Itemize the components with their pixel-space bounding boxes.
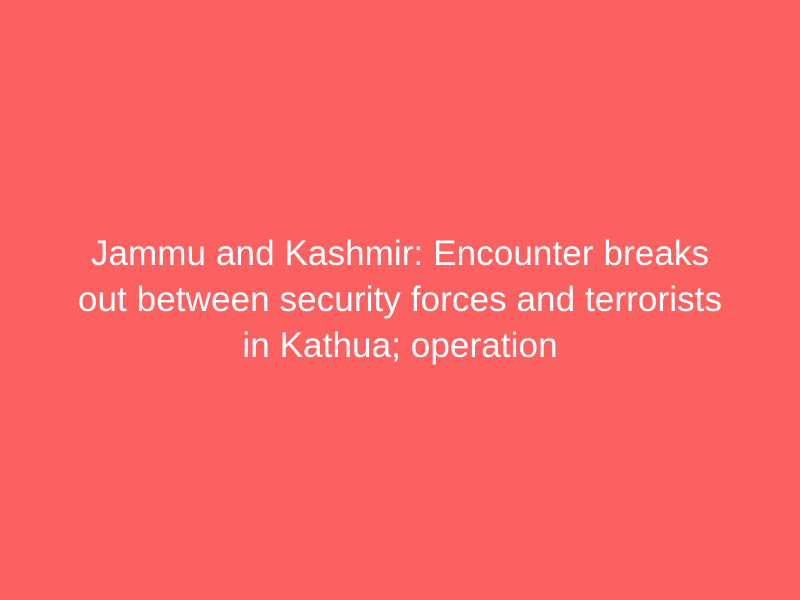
headline-block: Jammu and Kashmir: Encounter breaks out … xyxy=(60,231,740,369)
headline-card: Jammu and Kashmir: Encounter breaks out … xyxy=(0,0,800,600)
headline-text: Jammu and Kashmir: Encounter breaks out … xyxy=(70,231,730,369)
